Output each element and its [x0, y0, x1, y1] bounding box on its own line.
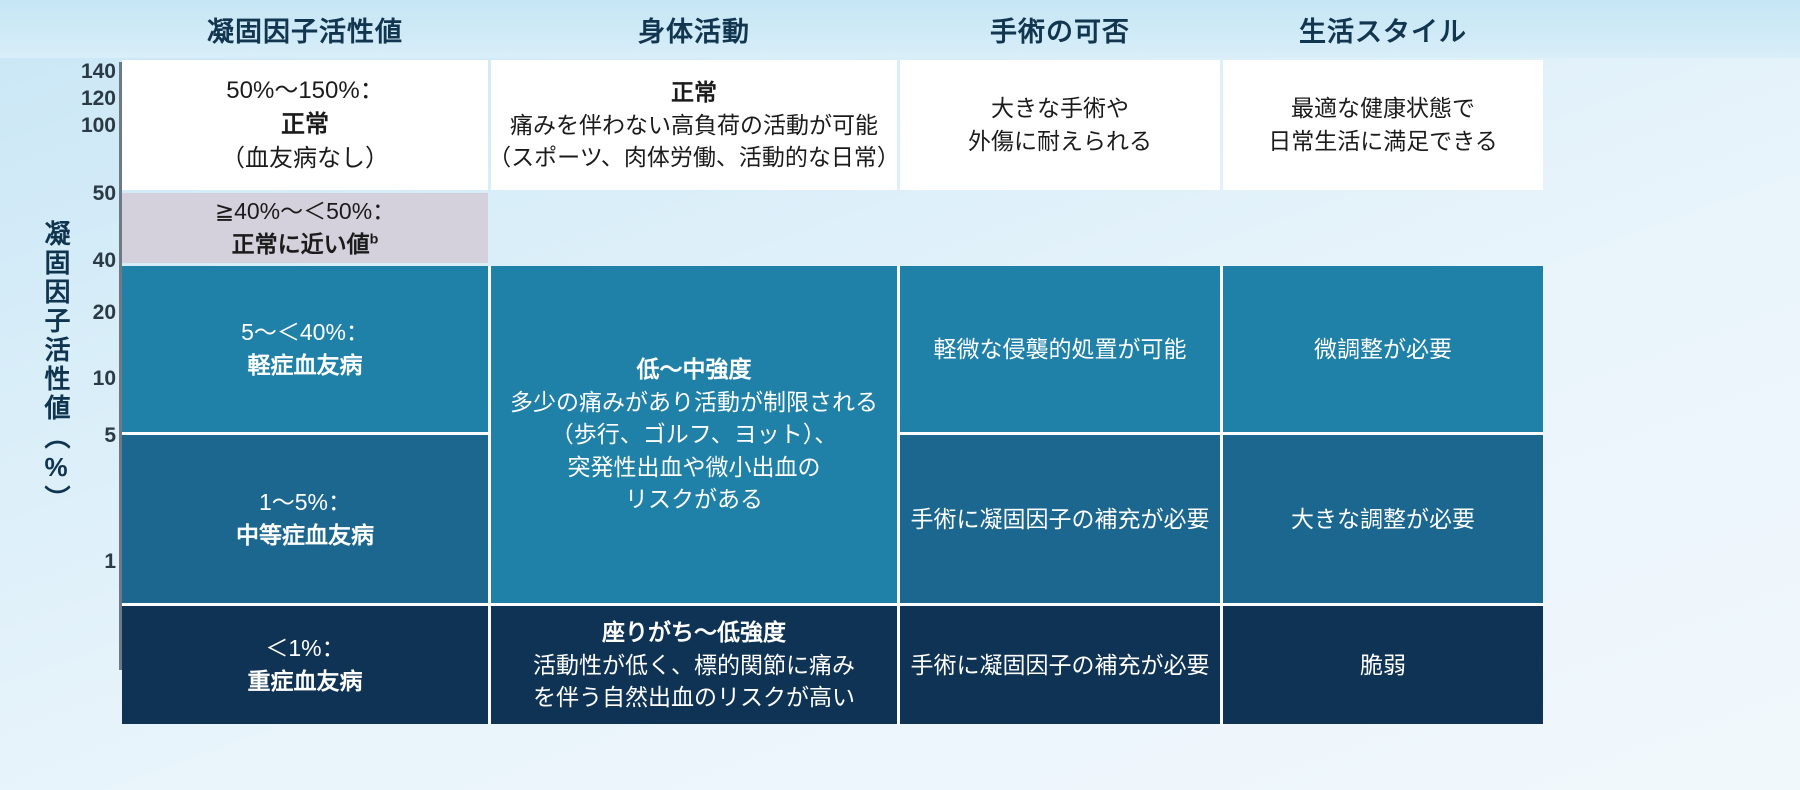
cell-normal-factor-level: 50%～150%： 正常 （血友病なし） — [122, 60, 488, 190]
severe-name: 重症血友病 — [248, 665, 363, 698]
normal-activity-line2: （スポーツ、肉体労働、活動的な日常） — [488, 141, 900, 174]
normal-note: （血友病なし） — [221, 142, 389, 176]
y-axis-ticks: 140 120 100 50 40 20 10 5 1 — [68, 0, 116, 790]
mild-lifestyle-line1: 微調整が必要 — [1314, 333, 1452, 366]
tick-100: 100 — [70, 115, 116, 136]
cell-mild-surgery: 軽微な侵襲的処置が可能 — [900, 266, 1220, 432]
grid-separator-v3 — [1220, 266, 1223, 724]
grid-separator-v1 — [488, 266, 491, 724]
cell-mild-lifestyle: 微調整が必要 — [1223, 266, 1543, 432]
cell-severe-surgery: 手術に凝固因子の補充が必要 — [900, 606, 1220, 724]
cell-severe-physical-activity: 座りがち～低強度 活動性が低く、標的関節に痛み を伴う自然出血のリスクが高い — [491, 606, 897, 724]
near-normal-superscript: b — [370, 231, 379, 247]
severe-activity-line2: を伴う自然出血のリスクが高い — [533, 681, 855, 714]
cell-moderate-factor-level: 1～5%： 中等症血友病 — [122, 435, 488, 603]
tick-20: 20 — [70, 302, 116, 323]
mild-activity-line1: 多少の痛みがあり活動が制限される — [510, 386, 878, 419]
moderate-surgery-line1: 手術に凝固因子の補充が必要 — [911, 503, 1210, 536]
severe-lifestyle-line1: 脆弱 — [1360, 649, 1406, 682]
tick-120: 120 — [70, 88, 116, 109]
tick-40: 40 — [70, 250, 116, 271]
cell-moderate-lifestyle: 大きな調整が必要 — [1223, 435, 1543, 603]
cell-normal-physical-activity: 正常 痛みを伴わない高負荷の活動が可能 （スポーツ、肉体労働、活動的な日常） — [491, 60, 897, 190]
tick-5: 5 — [70, 425, 116, 446]
cell-near-normal-factor-level: ≧40%～＜50%： 正常に近い値b — [122, 193, 488, 263]
tick-1: 1 — [70, 551, 116, 572]
normal-lifestyle-line1: 最適な健康状態で — [1291, 92, 1475, 125]
normal-range: 50%～150%： — [226, 74, 383, 108]
tick-10: 10 — [70, 368, 116, 389]
normal-lifestyle-line2: 日常生活に満足できる — [1268, 125, 1498, 158]
moderate-lifestyle-line1: 大きな調整が必要 — [1291, 503, 1475, 536]
mild-surgery-line1: 軽微な侵襲的処置が可能 — [934, 333, 1187, 366]
near-normal-range: ≧40%～＜50%： — [215, 195, 395, 228]
grid-separator-h-mild-moderate-c1 — [122, 432, 488, 435]
normal-activity-line1: 痛みを伴わない高負荷の活動が可能 — [510, 109, 878, 142]
column-header-surgery: 手術の可否 — [900, 0, 1220, 58]
severe-activity-line1: 活動性が低く、標的関節に痛み — [533, 649, 855, 682]
matrix-grid: 50%～150%： 正常 （血友病なし） 正常 痛みを伴わない高負荷の活動が可能… — [122, 60, 1800, 678]
moderate-range: 1～5%： — [259, 486, 351, 519]
cell-mild-moderate-physical-activity: 低～中強度 多少の痛みがあり活動が制限される （歩行、ゴルフ、ヨット）、 突発性… — [491, 266, 897, 603]
grid-separator-v2 — [897, 266, 900, 724]
figure-root: 凝固因子活性値 身体活動 手術の可否 生活スタイル 凝固因子活性値（%） 140… — [0, 0, 1800, 790]
normal-activity-title: 正常 — [671, 76, 717, 109]
y-axis-title-text: 凝固因子活性値（%） — [43, 220, 69, 514]
column-header-lifestyle: 生活スタイル — [1223, 0, 1543, 58]
mild-activity-line2: （歩行、ゴルフ、ヨット）、 — [551, 418, 838, 451]
normal-surgery-line1: 大きな手術や — [991, 92, 1129, 125]
cell-moderate-surgery: 手術に凝固因子の補充が必要 — [900, 435, 1220, 603]
column-header-factor-level: 凝固因子活性値 — [122, 0, 488, 58]
tick-50: 50 — [70, 183, 116, 204]
tick-140: 140 — [70, 61, 116, 82]
moderate-name: 中等症血友病 — [236, 519, 374, 552]
grid-separator-h-moderate-severe — [122, 603, 1543, 606]
severe-surgery-line1: 手術に凝固因子の補充が必要 — [911, 649, 1210, 682]
mild-activity-line3: 突発性出血や微小出血の — [568, 451, 821, 484]
mild-activity-line4: リスクがある — [625, 483, 763, 516]
cell-severe-lifestyle: 脆弱 — [1223, 606, 1543, 724]
cell-normal-lifestyle: 最適な健康状態で 日常生活に満足できる — [1223, 60, 1543, 190]
cell-severe-factor-level: ＜1%： 重症血友病 — [122, 606, 488, 724]
cell-mild-factor-level: 5～＜40%： 軽症血友病 — [122, 266, 488, 432]
grid-separator-h-mild-moderate-c34 — [900, 432, 1543, 435]
normal-name: 正常 — [281, 108, 329, 142]
near-normal-name: 正常に近い値 — [232, 231, 370, 257]
mild-name: 軽症血友病 — [248, 349, 363, 382]
severe-range: ＜1%： — [265, 632, 344, 665]
column-header-physical-activity: 身体活動 — [491, 0, 897, 58]
cell-near-normal-empty — [491, 193, 1543, 263]
normal-surgery-line2: 外傷に耐えられる — [968, 125, 1152, 158]
header-band: 凝固因子活性値 身体活動 手術の可否 生活スタイル — [0, 0, 1800, 58]
severe-activity-title: 座りがち～低強度 — [602, 616, 786, 649]
mild-range: 5～＜40%： — [241, 316, 369, 349]
near-normal-name-wrap: 正常に近い値b — [232, 228, 379, 261]
mild-activity-title: 低～中強度 — [637, 353, 752, 386]
cell-normal-surgery: 大きな手術や 外傷に耐えられる — [900, 60, 1220, 190]
